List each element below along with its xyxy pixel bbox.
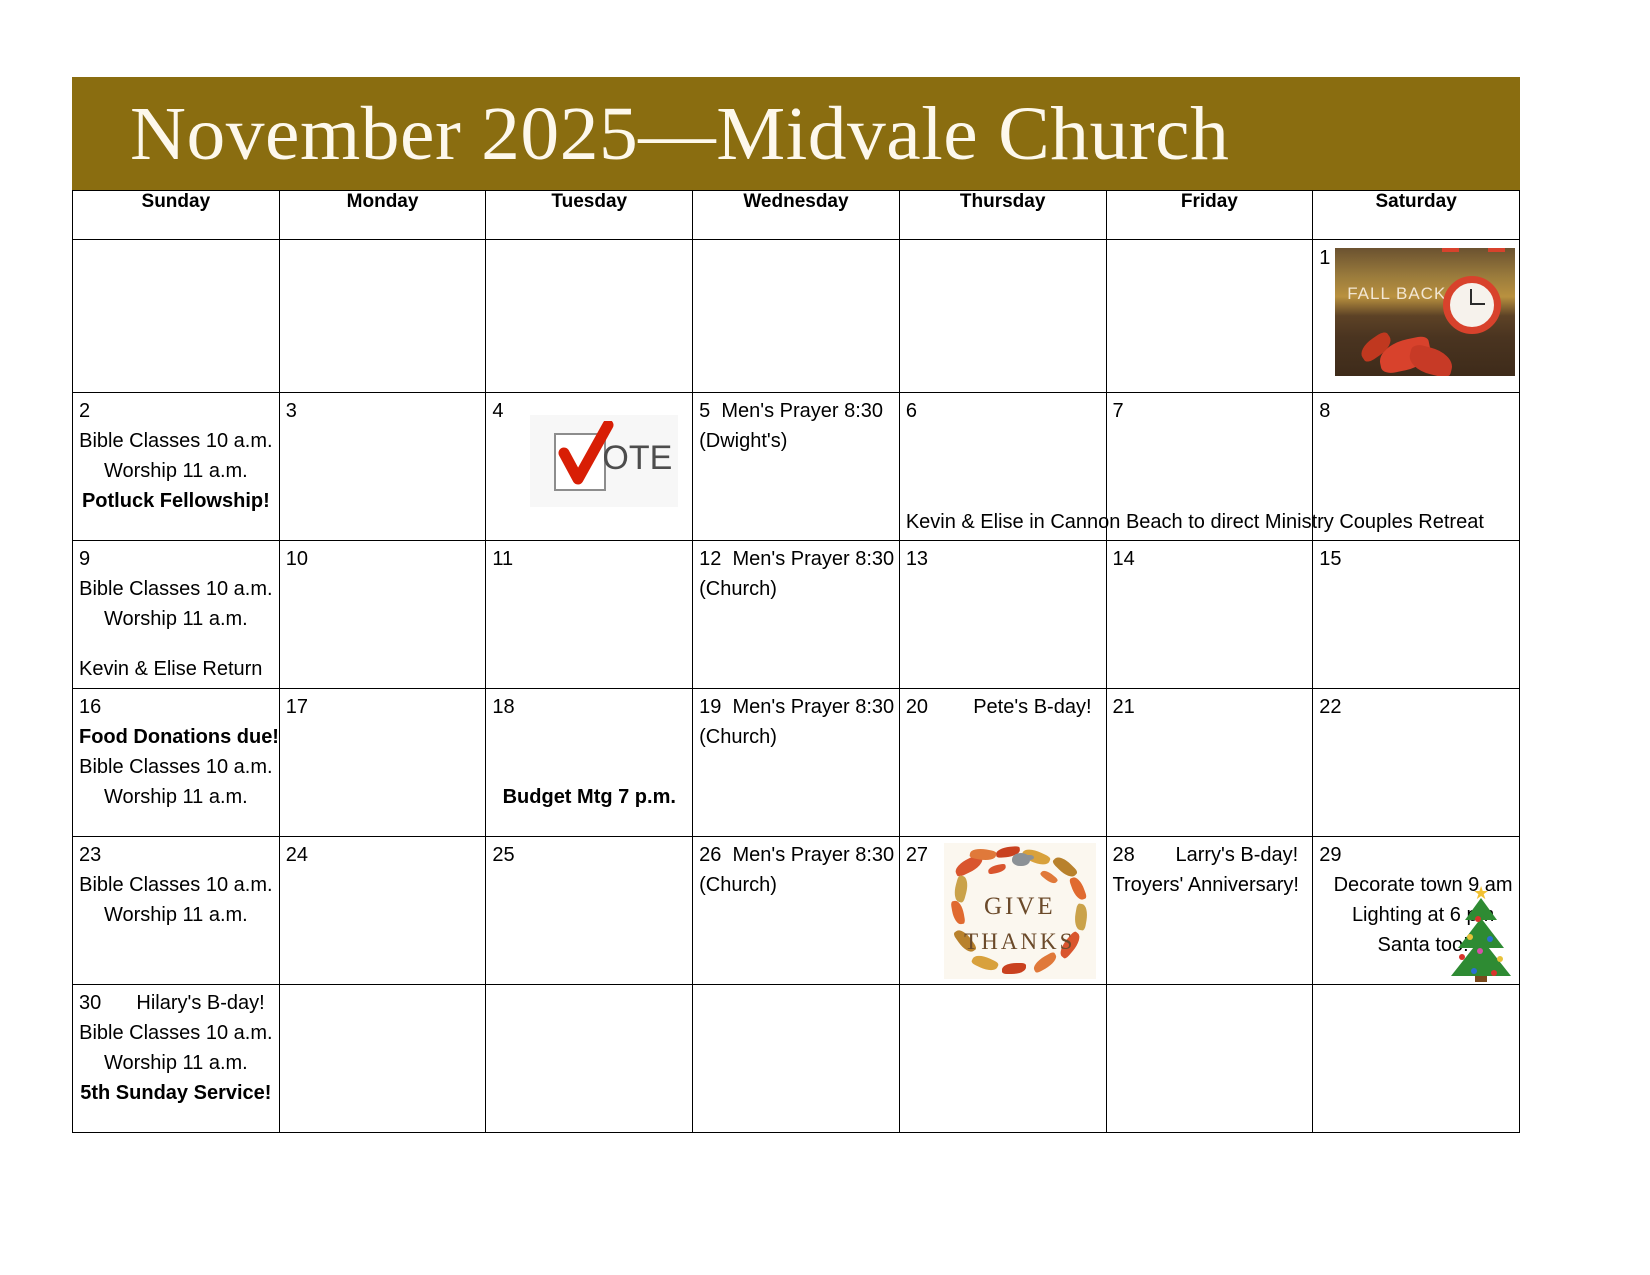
calendar-day-cell[interactable]: 2Bible Classes 10 a.m.Worship 11 a.m.Pot…	[73, 393, 280, 541]
day-number: 20	[906, 692, 928, 722]
ornament-icon	[1477, 948, 1483, 954]
vote-letters: OTE	[602, 439, 672, 477]
day-number: 6	[906, 396, 1100, 426]
day-number: 13	[906, 544, 1100, 574]
weekday-header-monday: Monday	[279, 191, 486, 240]
day-event: Men's Prayer 8:30	[721, 844, 894, 866]
day-event: Troyers' Anniversary!	[1113, 870, 1307, 900]
ornament-icon	[1487, 936, 1493, 942]
weekday-header-row: Sunday Monday Tuesday Wednesday Thursday…	[73, 191, 1520, 240]
day-number: 29	[1319, 840, 1513, 870]
multi-day-event-kevin-elise: Kevin & Elise in Cannon Beach to direct …	[906, 510, 1484, 534]
calendar: November 2025—Midvale Church Sunday Mond…	[72, 77, 1520, 1133]
calendar-day-cell[interactable]: 16Food Donations due!Bible Classes 10 a.…	[73, 689, 280, 837]
calendar-title-banner: November 2025—Midvale Church	[72, 77, 1520, 190]
calendar-day-cell[interactable]: 17	[279, 689, 486, 837]
day-event: Bible Classes 10 a.m.	[79, 1018, 273, 1048]
day-number: 14	[1113, 544, 1307, 574]
ornament-icon	[1491, 970, 1497, 976]
calendar-week-row: 23Bible Classes 10 a.m.Worship 11 a.m.24…	[73, 837, 1520, 985]
fall-back-label: FALL BACK	[1347, 284, 1446, 304]
weekday-header-wednesday: Wednesday	[693, 191, 900, 240]
weekday-header-friday: Friday	[1106, 191, 1313, 240]
calendar-empty-cell	[693, 240, 900, 393]
give-thanks-line2: THANKS	[944, 929, 1096, 955]
calendar-day-cell[interactable]: 26 Men's Prayer 8:30(Church)	[693, 837, 900, 985]
day-number: 3	[286, 396, 480, 426]
day-number: 17	[286, 692, 480, 722]
day-event: Worship 11 a.m.	[79, 1048, 273, 1078]
calendar-day-cell[interactable]: 9Bible Classes 10 a.m.Worship 11 a.m.Kev…	[73, 541, 280, 689]
calendar-empty-cell	[486, 240, 693, 393]
calendar-day-cell[interactable]: 21	[1106, 689, 1313, 837]
calendar-day-cell[interactable]: 30Hilary's B-day!Bible Classes 10 a.m.Wo…	[73, 985, 280, 1133]
day-number: 21	[1113, 692, 1307, 722]
day-event: Budget Mtg 7 p.m.	[492, 782, 686, 812]
day-event: Bible Classes 10 a.m.	[79, 426, 273, 456]
calendar-day-cell[interactable]: 19 Men's Prayer 8:30(Church)	[693, 689, 900, 837]
day-number: 10	[286, 544, 480, 574]
day-number: 19	[699, 696, 721, 718]
calendar-day-cell[interactable]: 20Pete's B-day!	[899, 689, 1106, 837]
day-event: Potluck Fellowship!	[79, 486, 273, 516]
autumn-leaf-icon	[1407, 343, 1456, 376]
wreath-leaf-icon	[987, 863, 1006, 874]
ornament-icon	[1467, 934, 1473, 940]
calendar-empty-cell	[486, 985, 693, 1133]
day-event: Worship 11 a.m.	[79, 900, 273, 930]
weekday-header-tuesday: Tuesday	[486, 191, 693, 240]
calendar-day-cell[interactable]: 29Decorate town 9 amLighting at 6 pmSant…	[1313, 837, 1520, 985]
weekday-header-saturday: Saturday	[1313, 191, 1520, 240]
day-number: 16	[79, 692, 273, 722]
fall-back-image: FALL BACK	[1335, 248, 1515, 376]
calendar-day-cell[interactable]: 13	[899, 541, 1106, 689]
weekday-header-sunday: Sunday	[73, 191, 280, 240]
calendar-empty-cell	[1313, 985, 1520, 1133]
star-icon: ★	[1473, 884, 1489, 902]
calendar-day-cell[interactable]: 25	[486, 837, 693, 985]
calendar-empty-cell	[73, 240, 280, 393]
day-number: 9	[79, 544, 273, 574]
day-event: Men's Prayer 8:30	[721, 548, 894, 570]
day-event: Men's Prayer 8:30	[710, 400, 883, 422]
day-number: 2	[79, 396, 273, 426]
day-number: 7	[1113, 396, 1307, 426]
day-number: 18	[492, 692, 686, 722]
day-event: Bible Classes 10 a.m.	[79, 574, 273, 604]
calendar-empty-cell	[1106, 985, 1313, 1133]
calendar-day-cell[interactable]: 11	[486, 541, 693, 689]
day-number: 22	[1319, 692, 1513, 722]
page-title: November 2025—Midvale Church	[130, 94, 1229, 174]
calendar-empty-cell	[899, 240, 1106, 393]
day-number: 28	[1113, 840, 1135, 870]
calendar-empty-cell	[279, 985, 486, 1133]
calendar-empty-cell	[899, 985, 1106, 1133]
calendar-day-cell[interactable]: 14	[1106, 541, 1313, 689]
vote-image: OTE	[530, 415, 678, 507]
day-event: Worship 11 a.m.	[79, 456, 273, 486]
calendar-day-cell[interactable]: 24	[279, 837, 486, 985]
day-number: 25	[492, 840, 686, 870]
day-event: Bible Classes 10 a.m.	[79, 752, 273, 782]
day-event: (Church)	[699, 870, 893, 900]
calendar-day-cell[interactable]: 3	[279, 393, 486, 541]
calendar-day-cell[interactable]: 28Larry's B-day!Troyers' Anniversary!	[1106, 837, 1313, 985]
wreath-leaf-icon	[1002, 963, 1026, 974]
ornament-icon	[1459, 954, 1465, 960]
calendar-empty-cell	[279, 240, 486, 393]
calendar-week-row: 2Bible Classes 10 a.m.Worship 11 a.m.Pot…	[73, 393, 1520, 541]
day-event: Bible Classes 10 a.m.	[79, 870, 273, 900]
day-event: Men's Prayer 8:30	[721, 696, 894, 718]
day-number: 5	[699, 400, 710, 422]
christmas-tree-icon: ★	[1445, 886, 1517, 982]
day-event: Food Donations due!	[79, 722, 273, 752]
calendar-empty-cell	[1106, 240, 1313, 393]
calendar-week-row: 1FALL BACK	[73, 240, 1520, 393]
day-event: Larry's B-day!	[1175, 840, 1298, 870]
calendar-day-cell[interactable]: 23Bible Classes 10 a.m.Worship 11 a.m.	[73, 837, 280, 985]
day-event: Worship 11 a.m.	[79, 782, 273, 812]
calendar-week-row: 30Hilary's B-day!Bible Classes 10 a.m.Wo…	[73, 985, 1520, 1133]
day-event: (Church)	[699, 574, 893, 604]
calendar-day-cell[interactable]: 12 Men's Prayer 8:30(Church)	[693, 541, 900, 689]
day-number: 8	[1319, 396, 1513, 426]
calendar-day-cell[interactable]: 5 Men's Prayer 8:30(Dwight's)	[693, 393, 900, 541]
calendar-week-row: 16Food Donations due!Bible Classes 10 a.…	[73, 689, 1520, 837]
calendar-day-cell[interactable]: 4OTE	[486, 393, 693, 541]
calendar-day-cell[interactable]: 22	[1313, 689, 1520, 837]
give-thanks-line1: GIVE	[944, 893, 1096, 921]
day-number: 11	[492, 544, 686, 574]
day-number: 23	[79, 840, 273, 870]
weekday-header-thursday: Thursday	[899, 191, 1106, 240]
day-number: 15	[1319, 544, 1513, 574]
calendar-grid: Sunday Monday Tuesday Wednesday Thursday…	[72, 190, 1520, 1133]
day-number: 24	[286, 840, 480, 870]
day-event: Hilary's B-day!	[136, 988, 264, 1018]
calendar-week-row: 9Bible Classes 10 a.m.Worship 11 a.m.Kev…	[73, 541, 1520, 689]
day-number: 30	[79, 988, 101, 1018]
day-event: Worship 11 a.m.	[79, 604, 273, 634]
calendar-day-cell[interactable]: 27GIVETHANKS	[899, 837, 1106, 985]
calendar-day-cell[interactable]: 10	[279, 541, 486, 689]
ornament-icon	[1497, 956, 1503, 962]
calendar-day-cell[interactable]: 15	[1313, 541, 1520, 689]
give-thanks-image: GIVETHANKS	[944, 843, 1096, 979]
day-event: Kevin & Elise Return	[79, 654, 273, 684]
calendar-empty-cell	[693, 985, 900, 1133]
alarm-clock-icon	[1443, 276, 1501, 334]
wreath-leaf-icon	[970, 952, 999, 974]
day-event: (Dwight's)	[699, 426, 893, 456]
wreath-leaf-icon	[1039, 868, 1058, 886]
bird-icon	[1012, 853, 1030, 866]
day-event: (Church)	[699, 722, 893, 752]
ornament-icon	[1475, 916, 1481, 922]
calendar-day-cell[interactable]: 1FALL BACK	[1313, 240, 1520, 393]
day-event: 5th Sunday Service!	[79, 1078, 273, 1108]
calendar-day-cell[interactable]: 6Kevin & Elise in Cannon Beach to direct…	[899, 393, 1106, 541]
calendar-day-cell[interactable]: 18Budget Mtg 7 p.m.	[486, 689, 693, 837]
day-number: 26	[699, 844, 721, 866]
ornament-icon	[1471, 968, 1477, 974]
day-event: Pete's B-day!	[973, 692, 1091, 722]
day-number: 12	[699, 548, 721, 570]
